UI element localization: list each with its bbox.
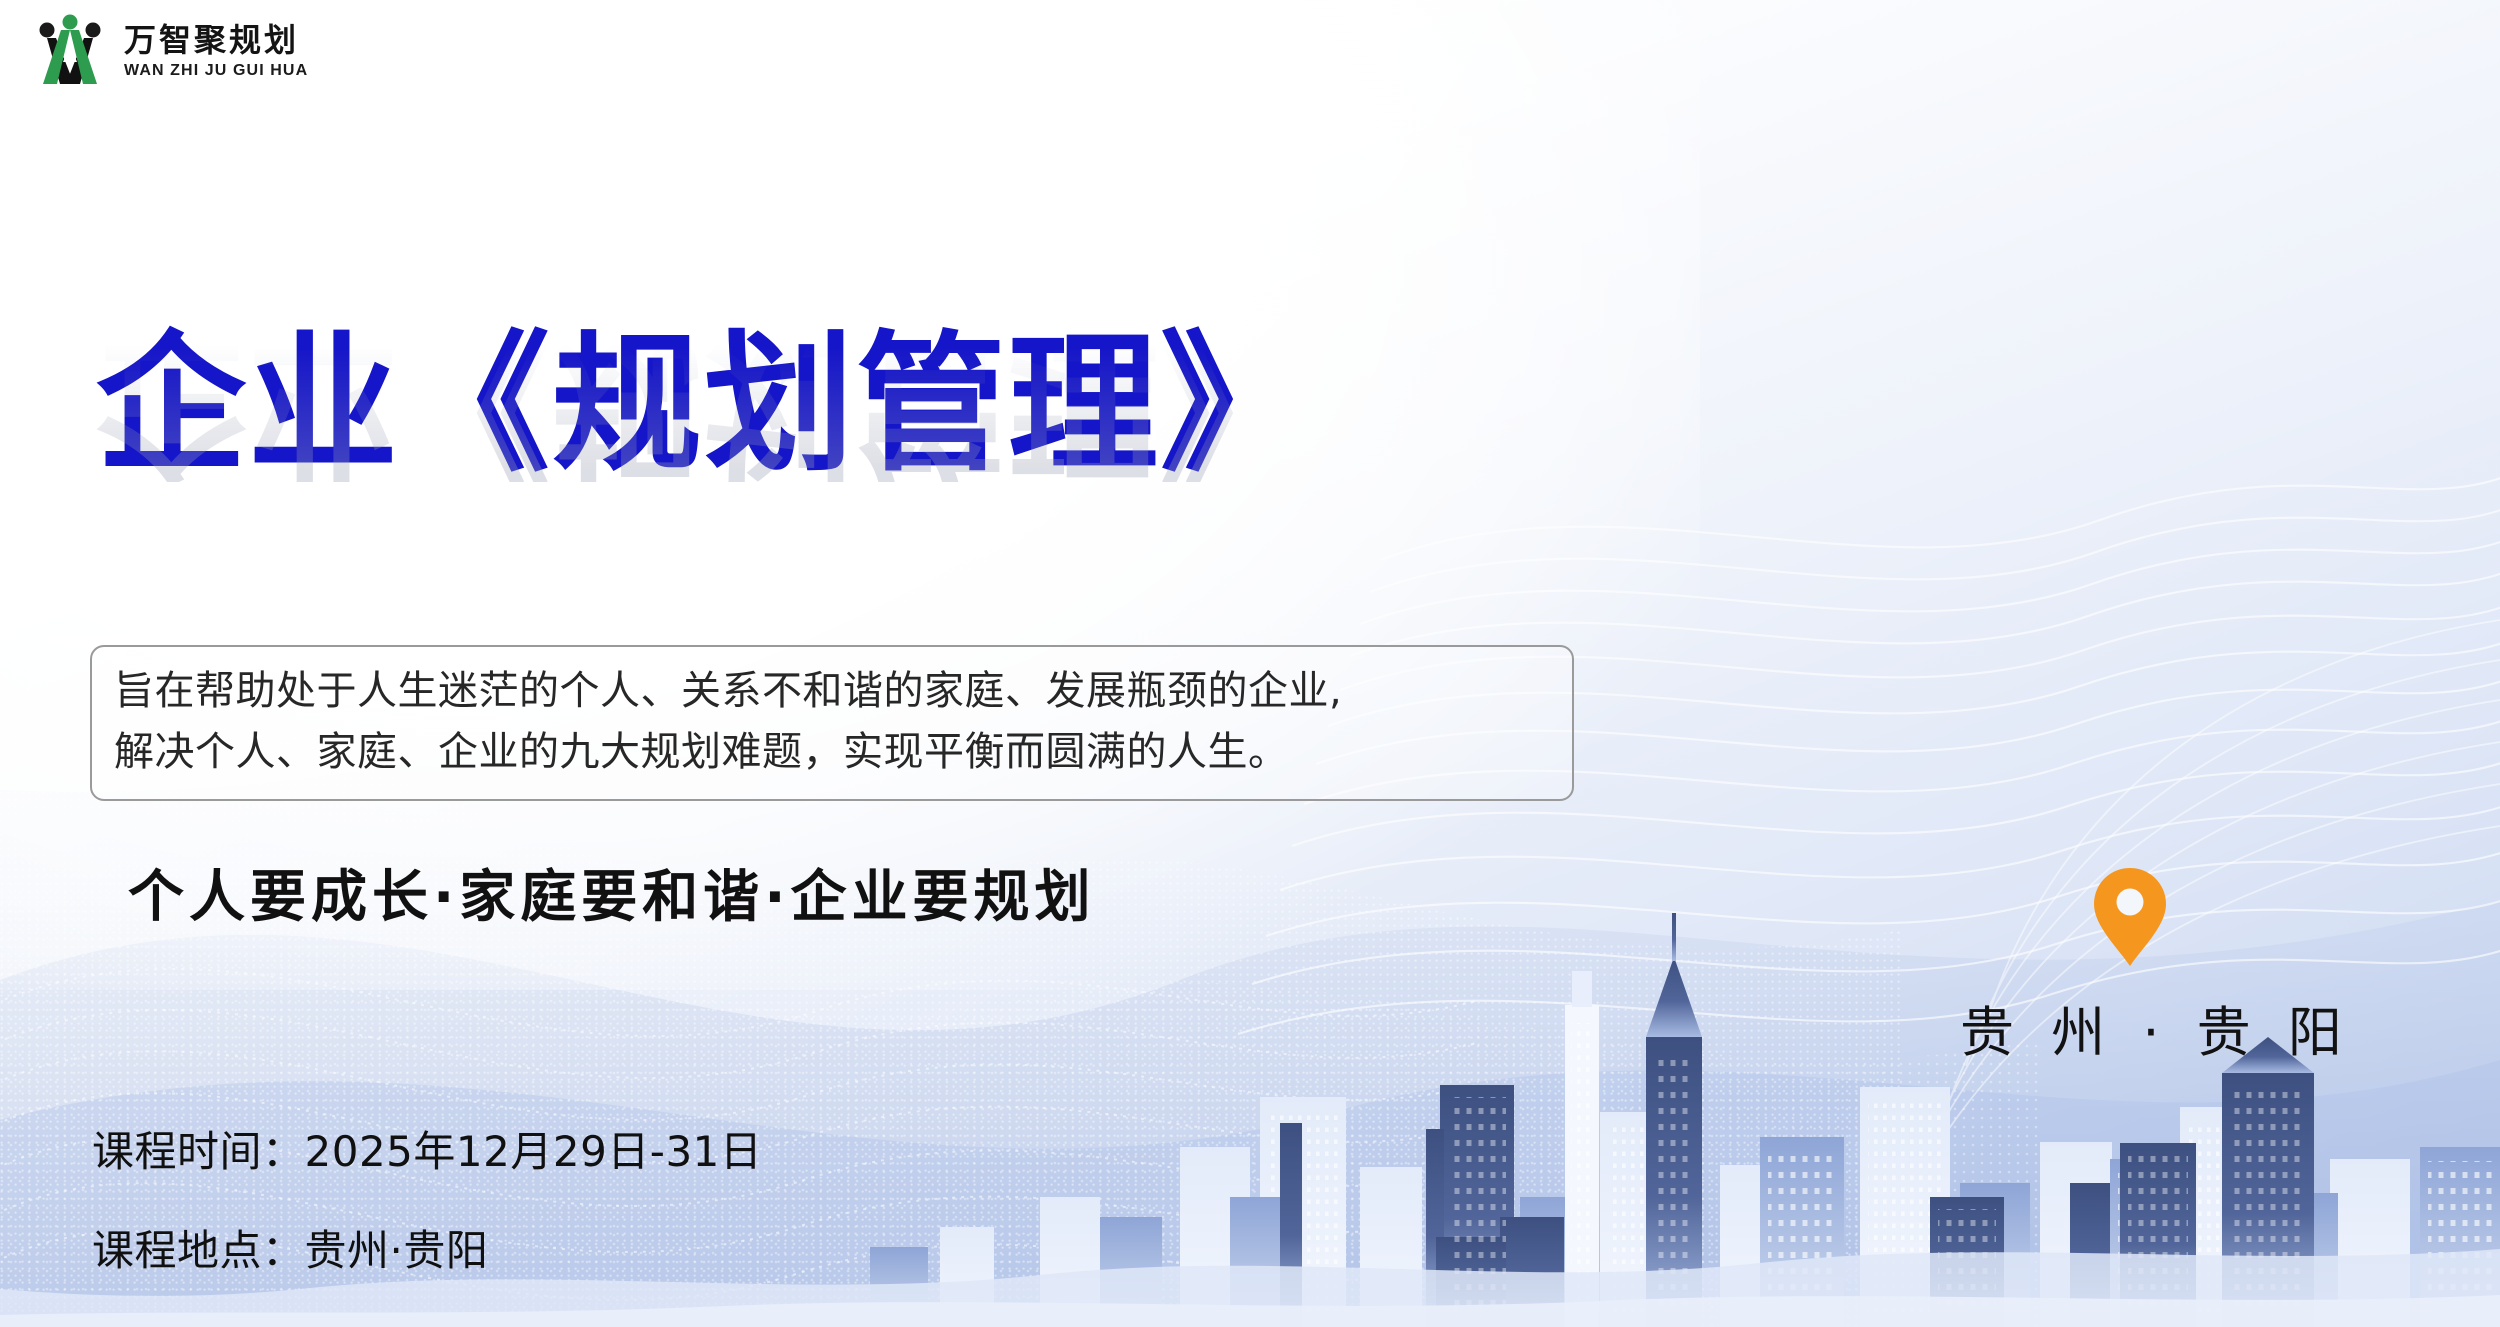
three-people-logo-icon <box>30 14 110 86</box>
course-place-label: 课程地点： <box>92 1226 305 1275</box>
map-pin-icon <box>2090 864 2170 970</box>
main-title-block: 企业《规划管理》 企业《规划管理》 <box>96 330 1312 632</box>
brand-logo: 万智聚规划 WAN ZHI JU GUI HUA <box>30 14 308 86</box>
description-line-1: 旨在帮助处于人生迷茫的个人、关系不和谐的家庭、发展瓶颈的企业, <box>114 661 1552 722</box>
location-label: 贵 州 · 贵 阳 <box>1960 988 2300 1067</box>
location-badge: 贵 州 · 贵 阳 <box>1960 864 2300 1067</box>
brand-name-en: WAN ZHI JU GUI HUA <box>124 63 308 79</box>
course-time-value: 2025年12月29日-31日 <box>305 1127 763 1176</box>
course-place-row: 课程地点：贵州·贵阳 <box>92 1217 762 1278</box>
description-box: 旨在帮助处于人生迷茫的个人、关系不和谐的家庭、发展瓶颈的企业, 解决个人、家庭、… <box>90 645 1574 801</box>
course-meta: 课程时间：2025年12月29日-31日 课程地点：贵州·贵阳 <box>92 1118 762 1278</box>
slogan-text: 个人要成长·家庭要和谐·企业要规划 <box>128 852 1096 933</box>
course-time-label: 课程时间： <box>92 1127 305 1176</box>
course-time-row: 课程时间：2025年12月29日-31日 <box>92 1118 762 1179</box>
description-line-2: 解决个人、家庭、企业的九大规划难题，实现平衡而圆满的人生。 <box>114 722 1552 783</box>
page-title-reflection: 企业《规划管理》 <box>96 332 1312 482</box>
course-place-value: 贵州·贵阳 <box>305 1226 489 1275</box>
poster-canvas: 万智聚规划 WAN ZHI JU GUI HUA 企业《规划管理》 企业《规划管… <box>0 0 2500 1327</box>
brand-name-cn: 万智聚规划 <box>124 24 308 56</box>
